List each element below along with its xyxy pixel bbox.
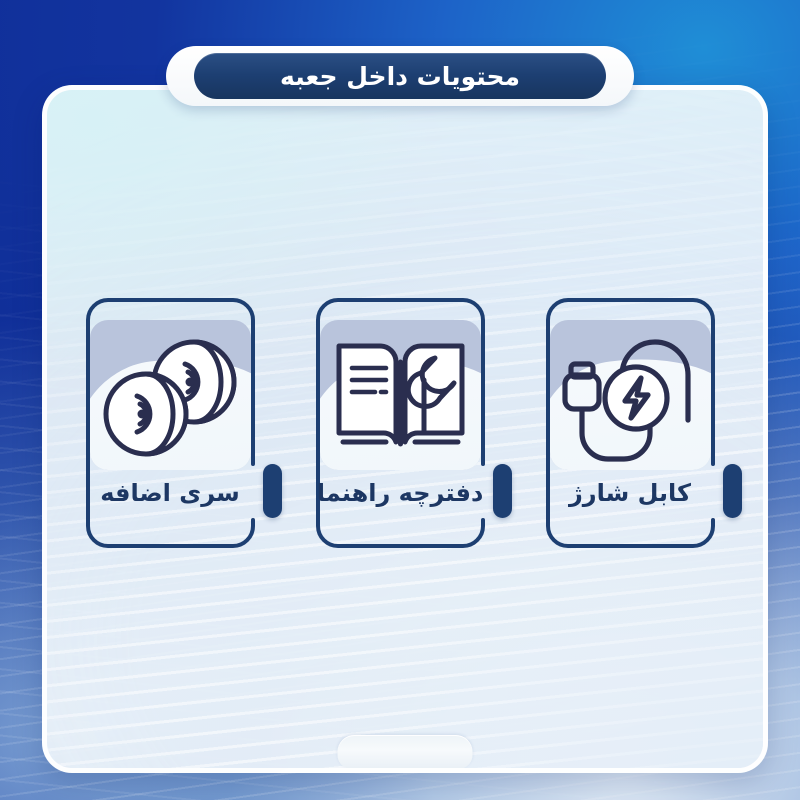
card-icon-panel xyxy=(550,320,711,470)
card-label: سری اضافه xyxy=(68,480,273,506)
card-extra-eartips[interactable]: سری اضافه xyxy=(68,298,273,548)
card-icon-panel xyxy=(90,320,251,470)
card-manual-book[interactable]: دفترچه راهنما xyxy=(298,298,503,548)
cards-row: کابل شارژ xyxy=(0,298,800,548)
screenshot-stage: محتویات داخل جعبه xyxy=(0,0,800,800)
page-title: محتویات داخل جعبه xyxy=(280,64,520,89)
card-charging-cable[interactable]: کابل شارژ xyxy=(528,298,733,548)
card-icon-panel xyxy=(320,320,481,470)
title-pill: محتویات داخل جعبه xyxy=(194,53,606,99)
card-accent-pill xyxy=(493,464,512,518)
card-label: دفترچه راهنما xyxy=(298,480,503,506)
card-accent-pill xyxy=(723,464,742,518)
manual-book-wrench-icon xyxy=(320,320,481,470)
panel-bottom-tab[interactable] xyxy=(338,735,473,769)
card-accent-pill xyxy=(263,464,282,518)
title-banner: محتویات داخل جعبه xyxy=(166,46,634,106)
card-label: کابل شارژ xyxy=(528,480,733,506)
charging-cable-icon xyxy=(550,320,711,470)
extra-eartips-icon xyxy=(90,320,251,470)
